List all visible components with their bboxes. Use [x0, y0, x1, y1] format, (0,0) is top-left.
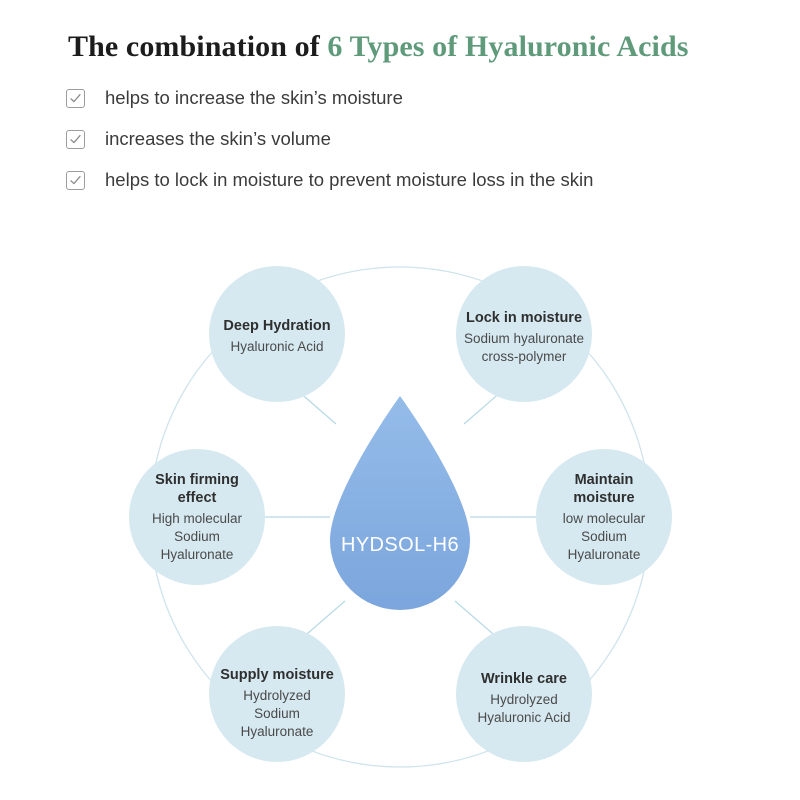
- hyaluronic-acid-diagram: HYDSOL-H6 Deep Hydration Hyaluronic Acid…: [0, 232, 800, 800]
- node-title: Maintain: [575, 472, 634, 488]
- checklist-item-label: increases the skin’s volume: [105, 130, 331, 149]
- page-title-accent: 6 Types of Hyaluronic Acids: [327, 30, 688, 63]
- water-drop-shape: [330, 396, 470, 610]
- node-subtitle: Sodium hyaluronate: [464, 331, 584, 346]
- node-maintain-moisture[interactable]: Maintain moisture low molecular Sodium H…: [536, 449, 672, 585]
- node-subtitle: High molecular: [152, 511, 243, 526]
- node-subtitle: Hyaluronate: [161, 547, 234, 562]
- node-title: Supply moisture: [220, 667, 334, 683]
- node-subtitle: Hydrolyzed: [243, 688, 311, 703]
- node-subtitle: Hyaluronic Acid: [477, 710, 570, 725]
- node-title: Wrinkle care: [481, 671, 567, 687]
- node-deep-hydration[interactable]: Deep Hydration Hyaluronic Acid: [209, 266, 345, 402]
- node-title: effect: [178, 490, 217, 506]
- node-subtitle: Sodium: [174, 529, 220, 544]
- node-title: Skin firming: [155, 472, 239, 488]
- node-lock-in-moisture[interactable]: Lock in moisture Sodium hyaluronate cros…: [456, 266, 592, 402]
- checklist-item-label: helps to increase the skin’s moisture: [105, 89, 403, 108]
- core-label: HYDSOL-H6: [341, 534, 459, 556]
- node-subtitle: Sodium: [254, 706, 300, 721]
- core-node[interactable]: HYDSOL-H6: [330, 396, 470, 610]
- header: The combination of 6 Types of Hyaluronic…: [0, 0, 800, 64]
- list-item: increases the skin’s volume: [66, 127, 800, 151]
- node-subtitle: Hyaluronate: [568, 547, 641, 562]
- check-square-icon: [66, 130, 85, 149]
- node-subtitle: Hydrolyzed: [490, 692, 558, 707]
- node-subtitle: Hyaluronic Acid: [230, 339, 323, 354]
- check-square-icon: [66, 171, 85, 190]
- node-subtitle: low molecular: [563, 511, 646, 526]
- node-subtitle: cross-polymer: [482, 349, 567, 364]
- diagram-canvas: HYDSOL-H6 Deep Hydration Hyaluronic Acid…: [0, 232, 800, 800]
- node-title: Lock in moisture: [466, 310, 582, 326]
- node-supply-moisture[interactable]: Supply moisture Hydrolyzed Sodium Hyalur…: [209, 626, 345, 762]
- check-square-icon: [66, 89, 85, 108]
- page-title: The combination of 6 Types of Hyaluronic…: [0, 30, 800, 64]
- node-subtitle: Hyaluronate: [241, 724, 314, 739]
- checklist-item-label: helps to lock in moisture to prevent moi…: [105, 171, 593, 190]
- list-item: helps to increase the skin’s moisture: [66, 86, 800, 110]
- node-wrinkle-care[interactable]: Wrinkle care Hydrolyzed Hyaluronic Acid: [456, 626, 592, 762]
- benefits-checklist: helps to increase the skin’s moisture in…: [0, 86, 800, 192]
- node-title: moisture: [573, 490, 634, 506]
- node-subtitle: Sodium: [581, 529, 627, 544]
- node-skin-firming-effect[interactable]: Skin firming effect High molecular Sodiu…: [129, 449, 265, 585]
- node-circle: [209, 266, 345, 402]
- node-title: Deep Hydration: [223, 318, 330, 334]
- list-item: helps to lock in moisture to prevent moi…: [66, 168, 800, 192]
- page-title-lead: The combination of: [68, 30, 327, 63]
